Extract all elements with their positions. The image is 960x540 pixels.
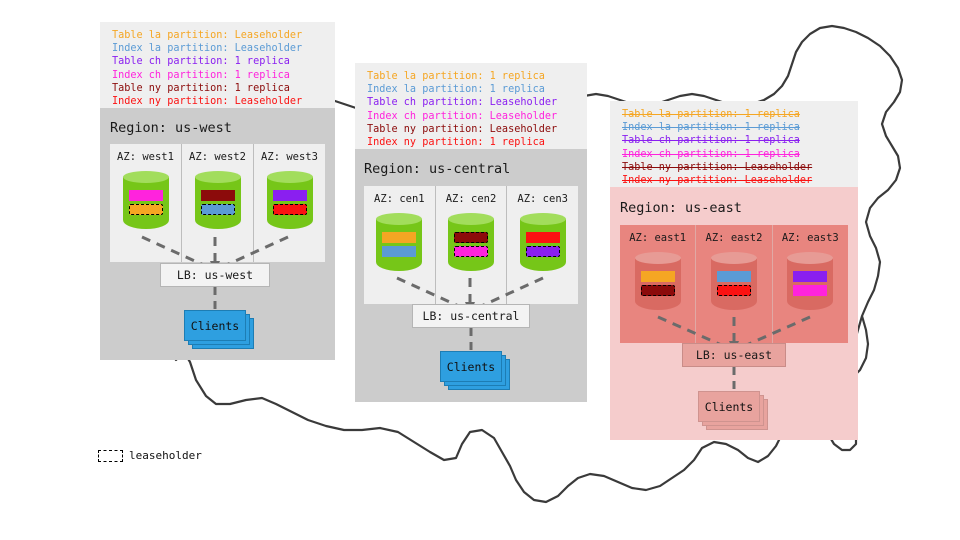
db-node[interactable] bbox=[711, 252, 757, 316]
partition-bar bbox=[793, 285, 827, 296]
clients-label: Clients bbox=[184, 310, 246, 341]
az-cell-cen3[interactable]: AZ: cen3 bbox=[506, 186, 578, 304]
partition-bar bbox=[129, 204, 163, 215]
az-label: AZ: east1 bbox=[629, 232, 686, 244]
db-node[interactable] bbox=[267, 171, 313, 235]
cylinder-body bbox=[123, 177, 169, 229]
az-cell-cen1[interactable]: AZ: cen1 bbox=[364, 186, 435, 304]
note-line: Index la partition: 1 replica bbox=[622, 121, 848, 134]
cylinder-top bbox=[448, 213, 494, 225]
clients-label: Clients bbox=[698, 391, 760, 422]
diagram-canvas: Table la partition: Leaseholder Index la… bbox=[0, 0, 960, 540]
note-line: Table ch partition: 1 replica bbox=[622, 134, 848, 147]
partition-bar bbox=[717, 285, 751, 296]
partition-bar bbox=[382, 232, 416, 243]
cylinder-body bbox=[448, 219, 494, 271]
region-title-us-west: Region: us-west bbox=[110, 120, 232, 136]
cylinder-top bbox=[376, 213, 422, 225]
note-line: Index ch partition: Leaseholder bbox=[367, 110, 577, 123]
note-line: Table ny partition: Leaseholder bbox=[367, 123, 577, 136]
az-strip-us-east: AZ: east1 AZ: east2 AZ: east3 bbox=[620, 225, 848, 343]
az-label: AZ: cen2 bbox=[446, 193, 497, 205]
note-line: Table la partition: 1 replica bbox=[367, 70, 577, 83]
partition-bar bbox=[526, 246, 560, 257]
region-title-us-east: Region: us-east bbox=[620, 200, 742, 216]
partition-bar bbox=[793, 271, 827, 282]
db-node[interactable] bbox=[787, 252, 833, 316]
cylinder-body bbox=[787, 258, 833, 310]
leaseholder-swatch-icon bbox=[98, 450, 123, 462]
note-line: Table ny partition: 1 replica bbox=[112, 82, 325, 95]
az-cell-west1[interactable]: AZ: west1 bbox=[110, 144, 181, 262]
note-line: Table ny partition: Leaseholder bbox=[622, 161, 848, 174]
cylinder-top bbox=[123, 171, 169, 183]
clients-us-central[interactable]: Clients bbox=[440, 351, 516, 395]
cylinder-top bbox=[711, 252, 757, 264]
db-node[interactable] bbox=[448, 213, 494, 277]
az-strip-us-central: AZ: cen1 AZ: cen2 AZ: cen3 bbox=[364, 186, 578, 304]
az-label: AZ: east3 bbox=[782, 232, 839, 244]
db-node[interactable] bbox=[123, 171, 169, 235]
cylinder-body bbox=[711, 258, 757, 310]
legend-leaseholder: leaseholder bbox=[98, 449, 202, 462]
note-line: Index ch partition: 1 replica bbox=[112, 69, 325, 82]
note-panel-us-central: Table la partition: 1 replica Index la p… bbox=[355, 63, 587, 149]
note-line: Index ny partition: Leaseholder bbox=[622, 174, 848, 187]
partition-bar bbox=[273, 190, 307, 201]
legend-label: leaseholder bbox=[129, 449, 202, 462]
region-title-us-central: Region: us-central bbox=[364, 161, 510, 177]
load-balancer-us-central[interactable]: LB: us-central bbox=[412, 304, 530, 328]
az-cell-cen2[interactable]: AZ: cen2 bbox=[435, 186, 507, 304]
partition-bar bbox=[641, 285, 675, 296]
partition-bar bbox=[201, 204, 235, 215]
az-cell-east3[interactable]: AZ: east3 bbox=[772, 225, 848, 343]
note-line: Index ch partition: 1 replica bbox=[622, 148, 848, 161]
az-label: AZ: west3 bbox=[261, 151, 318, 163]
note-line: Index ny partition: 1 replica bbox=[367, 136, 577, 149]
partition-bar bbox=[382, 246, 416, 257]
partition-bar bbox=[526, 232, 560, 243]
az-label: AZ: cen3 bbox=[517, 193, 568, 205]
az-cell-east2[interactable]: AZ: east2 bbox=[695, 225, 771, 343]
cylinder-top bbox=[195, 171, 241, 183]
az-label: AZ: west1 bbox=[117, 151, 174, 163]
partition-bar bbox=[454, 246, 488, 257]
az-label: AZ: east2 bbox=[706, 232, 763, 244]
az-cell-west2[interactable]: AZ: west2 bbox=[181, 144, 253, 262]
partition-bar bbox=[273, 204, 307, 215]
cylinder-body bbox=[195, 177, 241, 229]
cylinder-body bbox=[376, 219, 422, 271]
cylinder-body bbox=[520, 219, 566, 271]
note-line: Table ch partition: 1 replica bbox=[112, 55, 325, 68]
db-node[interactable] bbox=[376, 213, 422, 277]
az-cell-east1[interactable]: AZ: east1 bbox=[620, 225, 695, 343]
partition-bar bbox=[201, 190, 235, 201]
partition-bar bbox=[454, 232, 488, 243]
load-balancer-us-west[interactable]: LB: us-west bbox=[160, 263, 270, 287]
db-node[interactable] bbox=[195, 171, 241, 235]
note-line: Table la partition: Leaseholder bbox=[112, 29, 325, 42]
note-panel-us-east: Table la partition: 1 replica Index la p… bbox=[610, 101, 858, 187]
clients-label: Clients bbox=[440, 351, 502, 382]
note-line: Table ch partition: Leaseholder bbox=[367, 96, 577, 109]
clients-us-west[interactable]: Clients bbox=[184, 310, 260, 354]
load-balancer-us-east[interactable]: LB: us-east bbox=[682, 343, 786, 367]
az-label: AZ: west2 bbox=[189, 151, 246, 163]
partition-bar bbox=[717, 271, 751, 282]
note-line: Index la partition: 1 replica bbox=[367, 83, 577, 96]
note-line: Index ny partition: Leaseholder bbox=[112, 95, 325, 108]
db-node[interactable] bbox=[520, 213, 566, 277]
clients-us-east[interactable]: Clients bbox=[698, 391, 774, 435]
az-cell-west3[interactable]: AZ: west3 bbox=[253, 144, 325, 262]
note-panel-us-west: Table la partition: Leaseholder Index la… bbox=[100, 22, 335, 108]
az-strip-us-west: AZ: west1 AZ: west2 AZ: west3 bbox=[110, 144, 325, 262]
cylinder-top bbox=[635, 252, 681, 264]
cylinder-body bbox=[635, 258, 681, 310]
note-line: Table la partition: 1 replica bbox=[622, 108, 848, 121]
cylinder-body bbox=[267, 177, 313, 229]
cylinder-top bbox=[267, 171, 313, 183]
cylinder-top bbox=[787, 252, 833, 264]
note-line: Index la partition: Leaseholder bbox=[112, 42, 325, 55]
cylinder-top bbox=[520, 213, 566, 225]
db-node[interactable] bbox=[635, 252, 681, 316]
az-label: AZ: cen1 bbox=[374, 193, 425, 205]
partition-bar bbox=[641, 271, 675, 282]
partition-bar bbox=[129, 190, 163, 201]
